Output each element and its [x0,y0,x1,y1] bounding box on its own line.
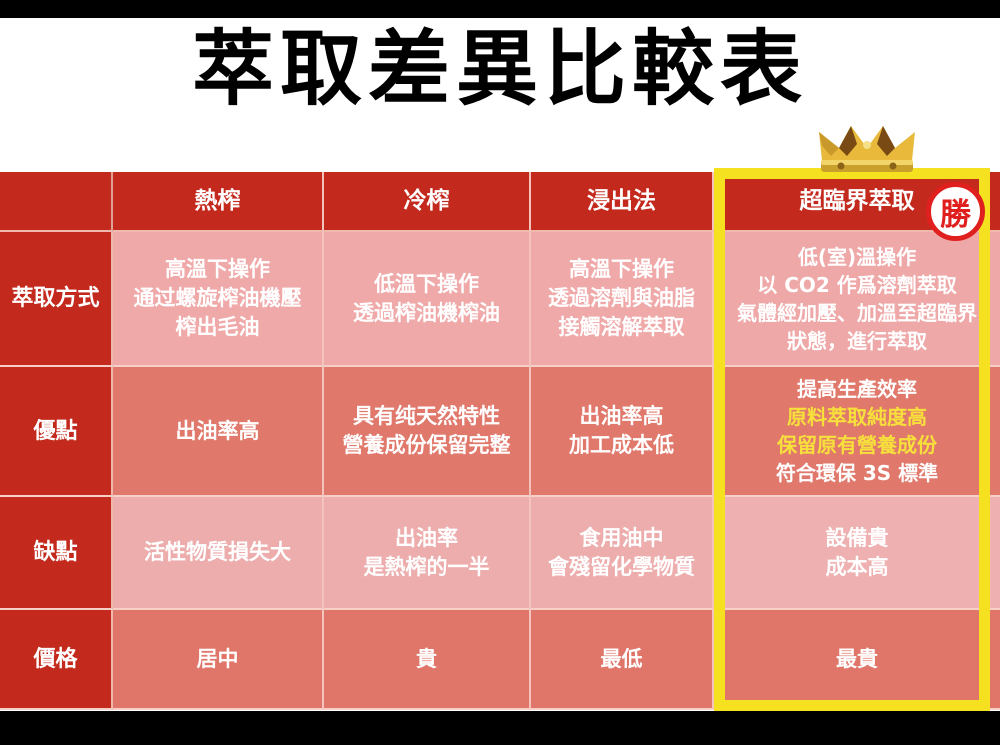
column-header-3: 浸出法 [531,172,714,232]
column-header-1: 熱榨 [113,172,324,232]
cell-line: 榨出毛油 [176,313,260,342]
table-cell-r3-c3: 食用油中會殘留化學物質 [531,497,714,610]
cell-line: 狀態，進行萃取 [787,327,927,355]
cell-line: 高溫下操作 [569,255,674,284]
table-cell-r4-c4: 最貴 [714,610,1000,710]
table-cell-r3-c2: 出油率是熱榨的一半 [324,497,531,610]
cell-line: 保留原有營養成份 [777,431,937,459]
cell-line: 符合環保 3S 標準 [776,459,938,487]
table-cell-r2-c2: 具有纯天然特性營養成份保留完整 [324,367,531,497]
cell-line: 是熱榨的一半 [364,553,490,582]
cell-line: 低溫下操作 [374,270,479,299]
column-header-label: 超臨界萃取 [800,187,915,216]
table-cell-r4-c3: 最低 [531,610,714,710]
cell-line: 低(室)溫操作 [798,243,916,271]
row-header-label: 優點 [33,417,77,446]
comparison-table: 熱榨冷榨浸出法超臨界萃取萃取方式高溫下操作通过螺旋榨油機壓榨出毛油低溫下操作透過… [0,172,1000,710]
cell-line: 通过螺旋榨油機壓 [134,284,302,313]
table-corner-cell [0,172,113,232]
win-seal-label: 勝 [940,189,971,234]
cell-line: 接觸溶解萃取 [559,313,685,342]
cell-line: 貴 [416,645,437,674]
cell-line: 出油率高 [176,417,260,446]
cell-line: 食用油中 [580,524,664,553]
cell-line: 以 CO2 作爲溶劑萃取 [757,271,957,299]
row-header-label: 萃取方式 [11,284,99,313]
cell-line: 設備貴 [826,524,889,553]
cell-line: 出油率高 [580,402,664,431]
row-header-1: 萃取方式 [0,232,113,367]
page-title: 萃取差異比較表 [0,20,1000,120]
cell-line: 具有纯天然特性 [353,402,500,431]
cell-line: 提高生產效率 [797,375,917,403]
cell-line: 成本高 [826,553,889,582]
column-header-label: 浸出法 [587,187,656,216]
cell-line: 透過溶劑與油脂 [548,284,695,313]
cell-line: 活性物質損失大 [144,538,291,567]
row-header-2: 優點 [0,367,113,497]
row-header-3: 缺點 [0,497,113,610]
table-cell-r2-c4: 提高生產效率原料萃取純度高保留原有營養成份符合環保 3S 標準 [714,367,1000,497]
cell-line: 會殘留化學物質 [548,553,695,582]
cell-line: 居中 [197,645,239,674]
table-cell-r1-c3: 高溫下操作透過溶劑與油脂接觸溶解萃取 [531,232,714,367]
cell-line: 營養成份保留完整 [343,431,511,460]
cell-line: 原料萃取純度高 [787,403,927,431]
cell-line: 最貴 [836,645,878,674]
table-cell-r1-c2: 低溫下操作透過榨油機榨油 [324,232,531,367]
cell-line: 氣體經加壓、加溫至超臨界 [737,299,977,327]
table-cell-r1-c1: 高溫下操作通过螺旋榨油機壓榨出毛油 [113,232,324,367]
column-header-2: 冷榨 [324,172,531,232]
cell-line: 透過榨油機榨油 [353,299,500,328]
cell-line: 出油率 [395,524,458,553]
table-cell-r4-c2: 貴 [324,610,531,710]
row-header-4: 價格 [0,610,113,710]
cell-line: 最低 [601,645,643,674]
crown-icon [817,122,917,174]
row-header-label: 價格 [33,645,77,674]
column-header-label: 熱榨 [195,187,241,216]
cell-line: 加工成本低 [569,431,674,460]
table-cell-r1-c4: 低(室)溫操作以 CO2 作爲溶劑萃取氣體經加壓、加溫至超臨界狀態，進行萃取 [714,232,1000,367]
win-seal-icon: 勝 [926,182,985,241]
table-cell-r3-c1: 活性物質損失大 [113,497,324,610]
slide-canvas: 萃取差異比較表 熱榨冷榨浸出法超臨界萃取萃取方式高溫下操作通过螺旋榨油機壓榨出毛… [0,0,1000,745]
cell-line: 高溫下操作 [165,255,270,284]
table-cell-r2-c3: 出油率高加工成本低 [531,367,714,497]
table-cell-r2-c1: 出油率高 [113,367,324,497]
table-cell-r3-c4: 設備貴成本高 [714,497,1000,610]
column-header-label: 冷榨 [404,187,450,216]
table-cell-r4-c1: 居中 [113,610,324,710]
row-header-label: 缺點 [33,538,77,567]
